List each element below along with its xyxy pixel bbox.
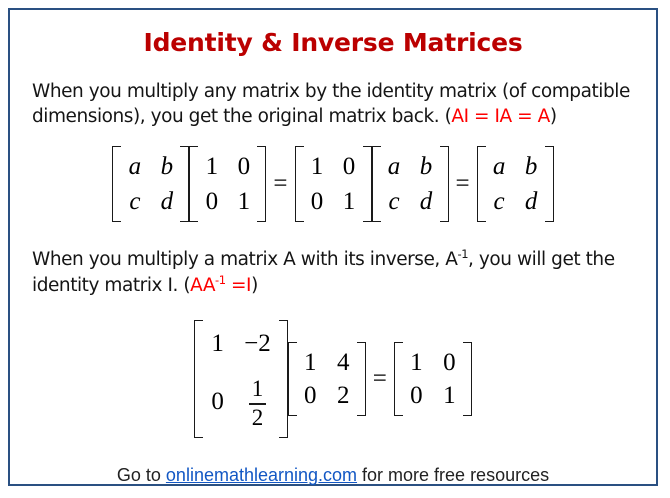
footer-link[interactable]: onlinemathlearning.com bbox=[166, 465, 357, 485]
matrix-cell: 0 bbox=[205, 185, 218, 218]
footer-suffix: for more free resources bbox=[357, 465, 549, 485]
matrix-cell: 0 bbox=[237, 150, 250, 183]
matrix-cell: a bbox=[128, 150, 141, 183]
matrix-a-2: a b c d bbox=[372, 146, 449, 223]
matrix-cell: b bbox=[525, 150, 538, 183]
bracket-right-icon bbox=[357, 342, 366, 417]
paragraph2-highlight-tail: =I bbox=[226, 275, 252, 296]
bracket-left-icon bbox=[394, 342, 403, 417]
paragraph2-text-after: ) bbox=[251, 275, 258, 296]
bracket-left-icon bbox=[194, 320, 203, 438]
matrix-identity-result: 1 0 0 1 bbox=[394, 342, 472, 417]
footer-attribution: Go to onlinemathlearning.com for more fr… bbox=[10, 465, 656, 486]
matrix-cell: 1 bbox=[311, 150, 324, 183]
matrix-cell: 1 bbox=[237, 185, 250, 218]
paragraph-identity-property: When you multiply any matrix by the iden… bbox=[32, 79, 634, 130]
paragraph-inverse-property: When you multiply a matrix A with its in… bbox=[32, 247, 634, 298]
paragraph2-highlight-superscript: -1 bbox=[215, 272, 226, 286]
matrix-cell: 0 bbox=[304, 379, 317, 412]
matrix-cell: 0 bbox=[343, 150, 356, 183]
matrix-original-operand: 1 4 0 2 bbox=[288, 342, 366, 417]
bracket-right-icon bbox=[463, 342, 472, 417]
page-title: Identity & Inverse Matrices bbox=[10, 29, 656, 57]
matrix-cell: −2 bbox=[244, 327, 271, 360]
bracket-right-icon bbox=[545, 146, 554, 223]
matrix-cell: c bbox=[388, 185, 401, 218]
matrix-inverse-operand: 1 −2 0 1 2 bbox=[194, 320, 288, 438]
paragraph2-superscript: -1 bbox=[458, 247, 469, 261]
matrix-cell: c bbox=[128, 185, 141, 218]
bracket-right-icon bbox=[363, 146, 372, 223]
matrix-cell-fraction: 1 2 bbox=[249, 372, 267, 430]
bracket-right-icon bbox=[279, 320, 288, 438]
matrix-cell: 1 bbox=[211, 327, 224, 360]
matrix-cell: 1 bbox=[304, 346, 317, 379]
bracket-left-icon bbox=[477, 146, 486, 223]
matrix-cell: a bbox=[493, 150, 506, 183]
matrix-a-1: a b c d bbox=[112, 146, 189, 223]
bracket-left-icon bbox=[295, 146, 304, 223]
matrix-identity-1: 1 0 0 1 bbox=[189, 146, 266, 223]
equals-sign: = bbox=[449, 170, 477, 198]
slide-card: Identity & Inverse Matrices When you mul… bbox=[8, 8, 658, 486]
matrix-cell: 1 bbox=[410, 346, 423, 379]
matrix-cell: 0 bbox=[211, 385, 224, 418]
matrix-cell: 4 bbox=[337, 346, 350, 379]
bracket-left-icon bbox=[372, 146, 381, 223]
matrix-cell: 0 bbox=[443, 346, 456, 379]
bracket-right-icon bbox=[440, 146, 449, 223]
matrix-cell: d bbox=[160, 185, 173, 218]
equals-sign: = bbox=[266, 170, 294, 198]
fraction-denominator: 2 bbox=[249, 406, 267, 431]
bracket-left-icon bbox=[112, 146, 121, 223]
bracket-right-icon bbox=[180, 146, 189, 223]
equation-identity-multiplication: a b c d 1 0 0 1 = 1 0 0 1 bbox=[10, 146, 656, 223]
bracket-right-icon bbox=[257, 146, 266, 223]
matrix-cell: 0 bbox=[311, 185, 324, 218]
paragraph2-highlight-base: AA bbox=[190, 275, 215, 296]
footer-prefix: Go to bbox=[117, 465, 166, 485]
equation-inverse-example: 1 −2 0 1 2 1 4 0 2 bbox=[10, 320, 656, 438]
equals-sign: = bbox=[366, 365, 394, 393]
matrix-cell: 0 bbox=[410, 379, 423, 412]
fraction-numerator: 1 bbox=[249, 377, 267, 402]
paragraph2-text-before-1: When you multiply a matrix A with its in… bbox=[32, 249, 458, 270]
matrix-cell: c bbox=[493, 185, 506, 218]
matrix-cell: b bbox=[160, 150, 173, 183]
matrix-identity-2: 1 0 0 1 bbox=[295, 146, 372, 223]
bracket-left-icon bbox=[189, 146, 198, 223]
matrix-cell: a bbox=[388, 150, 401, 183]
matrix-cell: 1 bbox=[205, 150, 218, 183]
matrix-cell: d bbox=[525, 185, 538, 218]
paragraph1-text-after: ) bbox=[550, 106, 557, 127]
bracket-left-icon bbox=[288, 342, 297, 417]
paragraph1-highlight: AI = IA = A bbox=[451, 106, 549, 127]
matrix-cell: d bbox=[420, 185, 433, 218]
matrix-cell: 1 bbox=[343, 185, 356, 218]
matrix-a-result: a b c d bbox=[477, 146, 554, 223]
matrix-cell: 2 bbox=[337, 379, 350, 412]
matrix-cell: b bbox=[420, 150, 433, 183]
matrix-cell: 1 bbox=[443, 379, 456, 412]
